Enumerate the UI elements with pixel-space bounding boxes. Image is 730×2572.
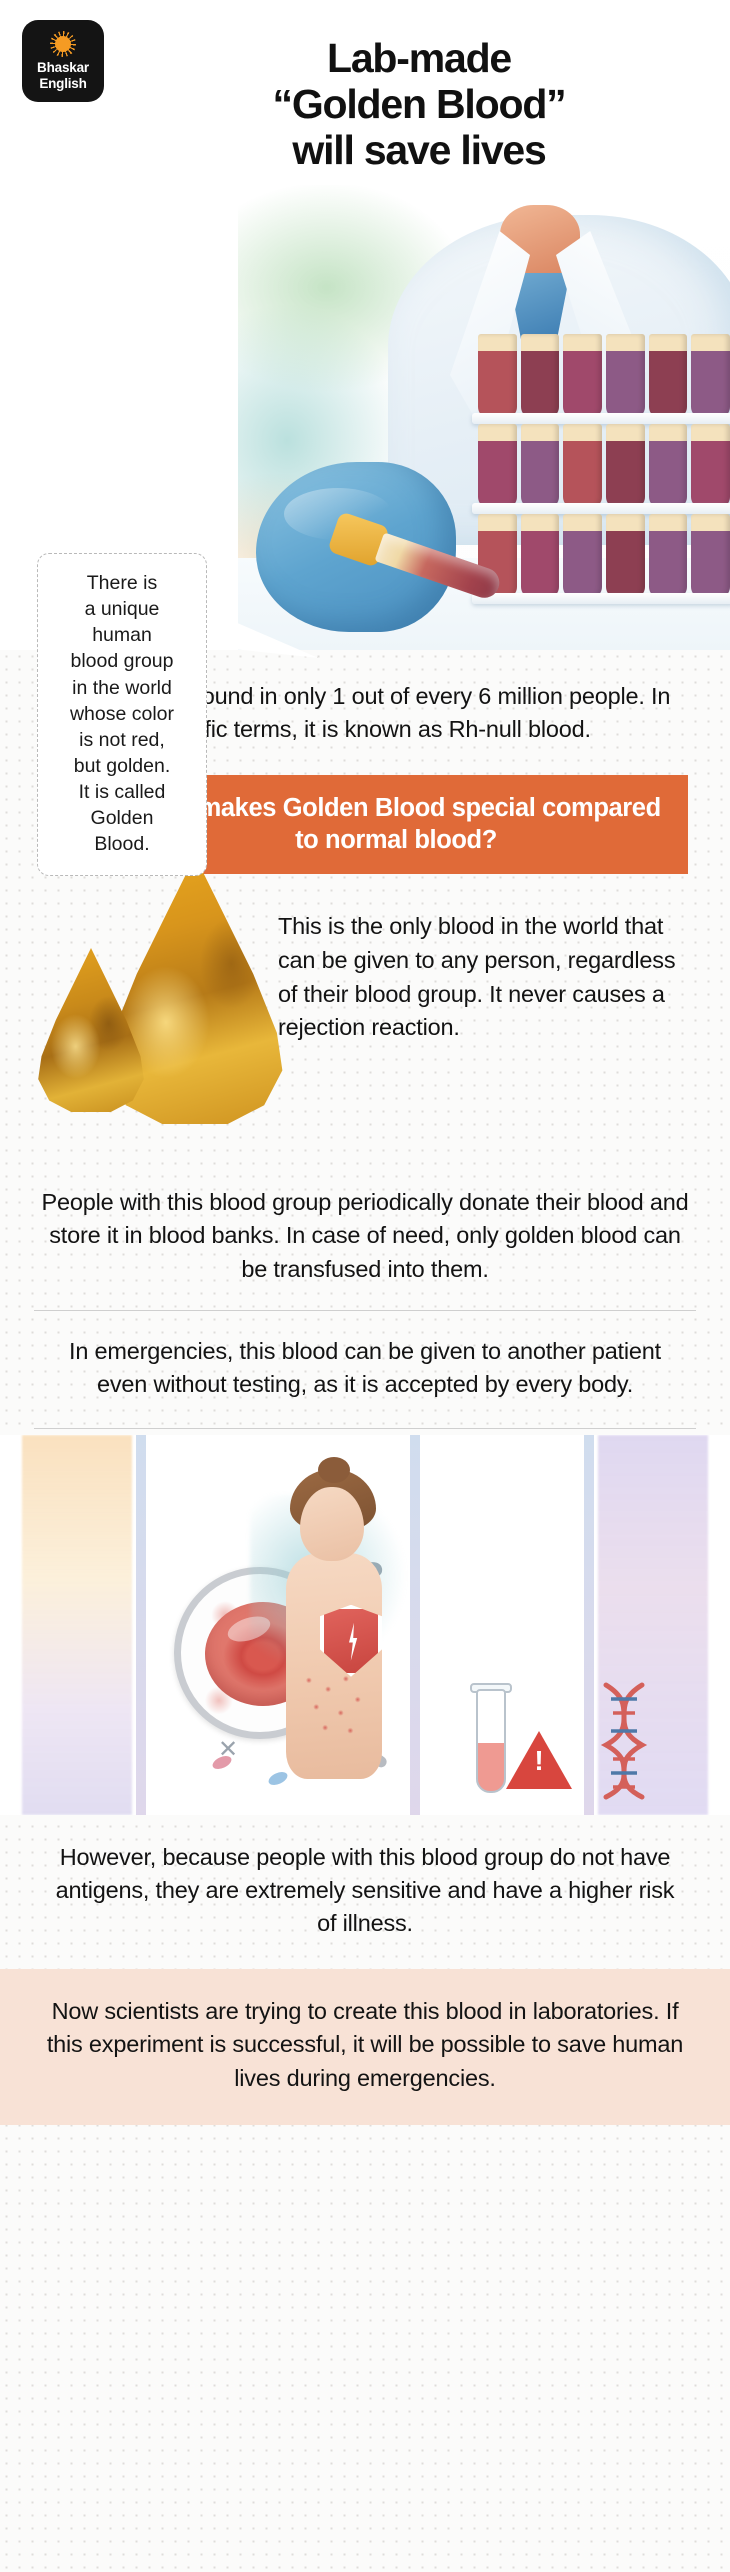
bubble-line: whose color: [50, 701, 194, 727]
brand-name-line2: English: [39, 76, 86, 91]
blood-banks-paragraph: People with this blood group periodicall…: [0, 1170, 730, 1306]
blood-tube: [606, 514, 645, 598]
tube-row: [478, 420, 730, 508]
blood-test-tube-icon: [476, 1689, 506, 1793]
however-paragraph: However, because people with this blood …: [0, 1815, 730, 1969]
blood-tube: [606, 424, 645, 508]
blood-tube: [691, 514, 730, 598]
blood-tube: [563, 334, 602, 418]
sun-icon: [50, 31, 76, 57]
test-tube-rack: [478, 308, 730, 608]
blood-drop-small-icon: [36, 948, 146, 1112]
bubble-line: Blood.: [50, 831, 194, 857]
dna-helix-icon: [596, 1681, 652, 1801]
drops-paragraph: This is the only blood in the world that…: [278, 892, 688, 1162]
blood-tube: [606, 334, 645, 418]
footer-paragraph: Now scientists are trying to create this…: [44, 1995, 686, 2095]
blood-tube: [691, 334, 730, 418]
bubble-line: is not red,: [50, 727, 194, 753]
blood-tube: [563, 424, 602, 508]
bubble-line: There is: [50, 570, 194, 596]
bubble-line: a unique: [50, 596, 194, 622]
watercolor-wash-left: [22, 1435, 132, 1815]
bubble-line: Golden: [50, 805, 194, 831]
bubble-line: blood group: [50, 648, 194, 674]
skin-rash-icon: [300, 1667, 374, 1741]
speech-bubble: There is a unique human blood group in t…: [37, 553, 207, 876]
germ-icon: [211, 1753, 234, 1771]
page-title: Lab-made “Golden Blood” will save lives: [132, 18, 706, 174]
brand-name-line1: Bhaskar: [37, 60, 89, 75]
warning-exclamation: !: [506, 1747, 572, 1775]
blood-tube: [521, 424, 560, 508]
blood-tube: [478, 424, 517, 508]
footer-section: Now scientists are trying to create this…: [0, 1969, 730, 2125]
divider-bottom: [34, 1428, 696, 1429]
blood-tube: [478, 334, 517, 418]
panel-separator: [410, 1435, 420, 1815]
hero-section: There is a unique human blood group in t…: [0, 185, 730, 650]
human-figure-body: [286, 1553, 382, 1779]
tube-row: [478, 510, 730, 598]
bubble-line: human: [50, 622, 194, 648]
blood-tube: [521, 514, 560, 598]
figure-hair-bun: [318, 1457, 350, 1483]
title-line-3: will save lives: [132, 128, 706, 174]
bubble-line: in the world: [50, 675, 194, 701]
title-line-2: “Golden Blood”: [132, 82, 706, 128]
bubble-line: but golden.: [50, 753, 194, 779]
divider-top: [34, 1310, 696, 1311]
header: Bhaskar English Lab-made “Golden Blood” …: [0, 0, 730, 185]
bubble-line: It is called: [50, 779, 194, 805]
figure-head: [300, 1487, 364, 1561]
germ-icon: [267, 1769, 290, 1787]
blood-tube: [649, 334, 688, 418]
golden-blood-drops: [18, 892, 268, 1162]
title-line-1: Lab-made: [132, 36, 706, 82]
panel-separator: [136, 1435, 146, 1815]
blood-tube: [649, 514, 688, 598]
blood-tube: [691, 424, 730, 508]
blood-tube: [563, 514, 602, 598]
blood-tube: [649, 424, 688, 508]
panel-separator: [584, 1435, 594, 1815]
rack-shelf: [472, 593, 730, 604]
blood-tube: [521, 334, 560, 418]
tube-row: [478, 330, 730, 418]
emergency-paragraph: In emergencies, this blood can be given …: [0, 1315, 730, 1424]
lab-scientist-illustration: [238, 185, 730, 650]
brand-logo[interactable]: Bhaskar English: [22, 20, 104, 102]
infographic-page: Bhaskar English Lab-made “Golden Blood” …: [0, 0, 730, 2572]
golden-drops-section: This is the only blood in the world that…: [0, 874, 730, 1170]
illustration-panels: ? ✕ ✕ ✕ !: [0, 1435, 730, 1815]
